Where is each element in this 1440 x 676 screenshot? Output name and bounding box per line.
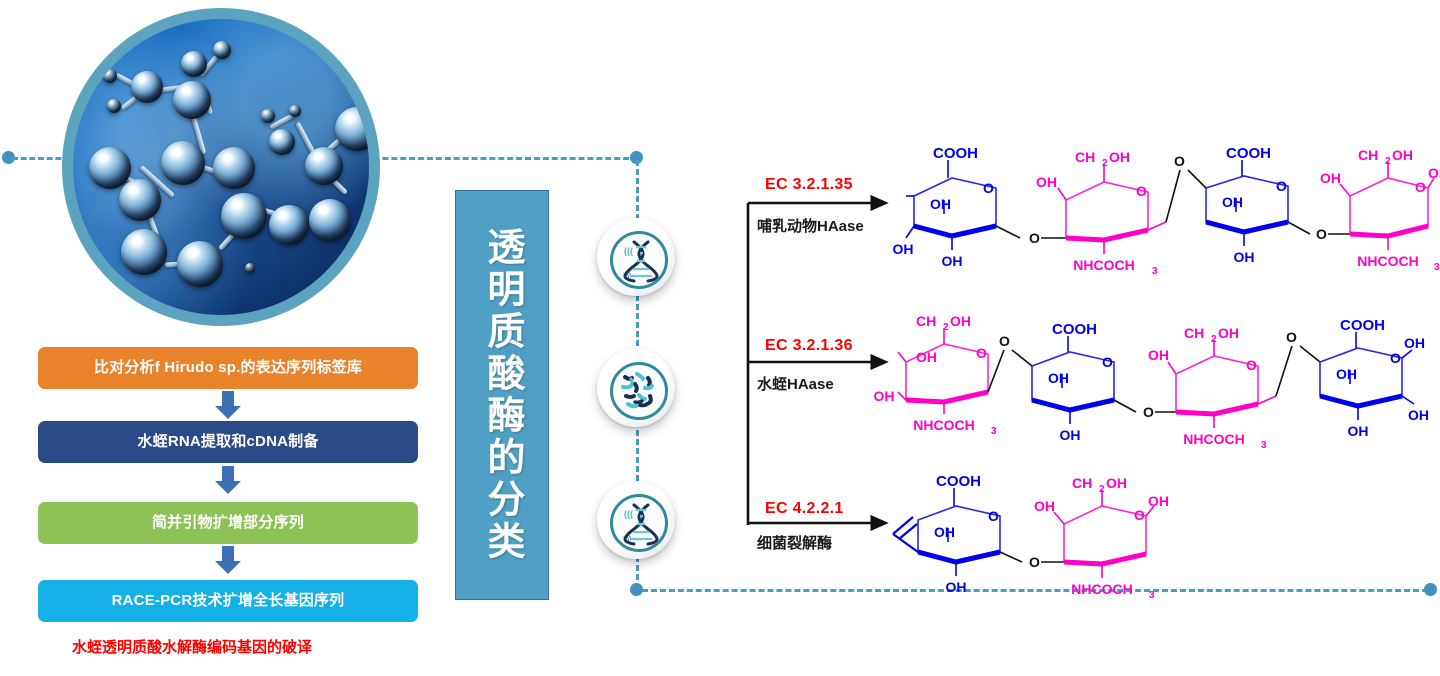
flow-arrow-0 [215,391,241,419]
structure-row-0: COOH O OH OH OH O CH 2 OH OH O NHCOCH 3 … [893,145,1440,277]
svg-text:OH: OH [1348,423,1369,439]
svg-text:3: 3 [991,426,997,437]
svg-text:3: 3 [1261,440,1267,451]
section-banner: 透明质酸酶的分类 [455,190,549,600]
molecule-atom [269,129,295,155]
badge-ring: ((( ))) [610,494,668,552]
banner-title: 透明质酸酶的分类 [483,227,521,563]
structure-row-1: CH 2 OH OH OH O NHCOCH 3 O COOH O OH OH … [874,313,1430,451]
molecule-atom [305,147,343,185]
svg-text:O: O [1136,183,1147,199]
svg-text:O: O [1029,230,1040,246]
flow-step-0-label: 比对分析f Hirudo sp.的表达序列标签库 [94,359,362,376]
flow-arrow-2 [215,546,241,574]
svg-text:O: O [976,345,987,361]
badge-ring: ((( ))) [610,231,668,289]
svg-text:O: O [1029,554,1040,570]
rail-bottom-horizontal [642,589,1428,592]
svg-text:OH: OH [1234,249,1255,265]
svg-text:3: 3 [1434,262,1440,273]
svg-text:(((: ((( [624,509,633,519]
flow-step-3-label: RACE-PCR技术扩增全长基因序列 [112,592,345,609]
ec-number-2: EC 4.2.2.1 [765,500,844,518]
svg-text:OH: OH [934,524,955,540]
flow-caption: 水蛭透明质酸水解酶编码基因的破译 [72,636,312,657]
molecule-atom [289,105,301,117]
svg-text:O: O [1415,179,1426,195]
molecule-atom [121,229,167,275]
badge-bacteria[interactable] [597,349,675,427]
svg-text:OH: OH [1428,165,1440,181]
ec-name-0: 哺乳动物HAase [757,215,864,236]
svg-text:OH: OH [950,313,971,329]
svg-text:OH: OH [1034,498,1055,514]
svg-text:2: 2 [1099,484,1105,495]
svg-text:O: O [1143,404,1154,420]
svg-text:O: O [1134,507,1145,523]
dna-helix-icon: ((( ))) [613,234,665,286]
flow-step-2-label: 简并引物扩增部分序列 [152,514,304,531]
svg-text:OH: OH [1222,194,1243,210]
svg-text:O: O [1174,153,1185,169]
flow-step-0[interactable]: 比对分析f Hirudo sp.的表达序列标签库 [38,347,418,389]
svg-text:O: O [1276,178,1287,194]
svg-text:OH: OH [1060,427,1081,443]
molecule-atom [119,179,161,221]
molecule-atom [177,241,223,287]
molecule-atom [261,109,275,123]
svg-text:OH: OH [874,388,895,404]
molecule-atom [335,107,369,151]
molecule-atom [131,71,163,103]
svg-text:CH: CH [1072,475,1092,491]
molecule-atom [161,141,205,185]
svg-text:3: 3 [1152,266,1158,277]
svg-text:O: O [999,333,1010,349]
ec-number-1: EC 3.2.1.36 [765,337,853,355]
svg-text:OH: OH [1336,366,1357,382]
svg-text:2: 2 [943,322,949,333]
svg-text:CH: CH [1184,325,1204,341]
svg-text:OH: OH [1106,475,1127,491]
ec-number-0: EC 3.2.1.35 [765,176,853,194]
flow-step-3[interactable]: RACE-PCR技术扩增全长基因序列 [38,580,418,622]
molecule-atom [213,147,255,189]
svg-text:O: O [983,180,994,196]
molecule-hero-image [62,8,380,326]
svg-text:OH: OH [1036,174,1057,190]
svg-text:COOH: COOH [936,473,981,490]
molecule-atom [173,81,211,119]
svg-text:OH: OH [916,349,937,365]
svg-text:2: 2 [1211,334,1217,345]
svg-text:OH: OH [930,196,951,212]
svg-text:OH: OH [1404,335,1425,351]
molecule-atom [269,205,309,245]
svg-text:2: 2 [1102,158,1108,169]
svg-text:OH: OH [942,253,963,269]
molecule-atom [221,193,267,239]
svg-text:OH: OH [1148,347,1169,363]
bacteria-icon [613,365,665,417]
molecule-atom [89,147,131,189]
flow-step-1[interactable]: 水蛭RNA提取和cDNA制备 [38,421,418,463]
molecule-atom [213,41,231,59]
flow-step-2[interactable]: 简并引物扩增部分序列 [38,502,418,544]
svg-text:CH: CH [916,313,936,329]
svg-text:OH: OH [1148,493,1169,509]
svg-text:NHCOCH: NHCOCH [1073,257,1134,273]
svg-text:O: O [1316,226,1327,242]
svg-text:O: O [1246,357,1257,373]
svg-text:(((: ((( [624,246,633,256]
ec-name-2: 细菌裂解酶 [757,532,832,553]
molecule-atom [103,69,117,83]
badge-ring [610,362,668,420]
molecule-atom [107,99,121,113]
svg-text:NHCOCH: NHCOCH [1183,431,1244,447]
branch-bracket [748,203,884,525]
svg-text:OH: OH [1218,325,1239,341]
badge-dna-bottom[interactable]: ((( ))) [597,481,675,559]
svg-text:OH: OH [946,579,967,595]
svg-text:2: 2 [1385,156,1391,167]
svg-text:OH: OH [1408,407,1429,423]
svg-text:OH: OH [893,241,914,257]
dna-helix-icon: ((( ))) [613,497,665,549]
label-cooh: COOH [933,145,978,162]
svg-text:CH: CH [1075,149,1095,165]
flow-step-1-label: 水蛭RNA提取和cDNA制备 [137,433,318,450]
svg-text:OH: OH [1320,170,1341,186]
svg-text:O: O [1102,354,1113,370]
molecule-photo-inner [73,19,369,315]
ec-name-1: 水蛭HAase [757,373,834,394]
svg-text:O: O [1286,329,1297,345]
svg-text:COOH: COOH [1052,321,1097,338]
svg-text:OH: OH [1392,147,1413,163]
svg-text:NHCOCH: NHCOCH [1357,253,1418,269]
rail-dot-right [1424,583,1437,596]
svg-text:COOH: COOH [1226,145,1271,162]
molecule-atom [181,51,207,77]
svg-text:O: O [988,508,999,524]
badge-dna-top[interactable]: ((( ))) [597,218,675,296]
svg-text:OH: OH [1109,149,1130,165]
flow-arrow-1 [215,466,241,494]
molecule-atom [309,199,351,241]
svg-text:NHCOCH: NHCOCH [913,417,974,433]
svg-text:O: O [1390,350,1401,366]
svg-text:COOH: COOH [1340,317,1385,334]
svg-text:OH: OH [1048,370,1069,386]
molecule-atom [245,263,255,273]
structure-row-2: COOH O OH OH O CH 2 OH OH O OH NHCOCH 3 [893,473,1169,601]
svg-text:CH: CH [1358,147,1378,163]
